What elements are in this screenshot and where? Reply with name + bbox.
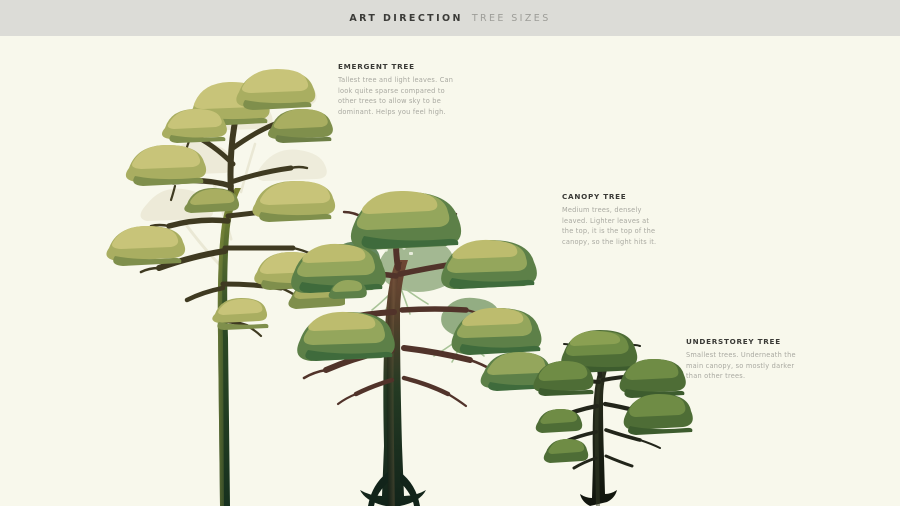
art-direction-board: ART DIRECTION TREE SIZES	[0, 0, 900, 506]
annotation-title-canopy: CANOPY TREE	[562, 193, 658, 201]
header-title-secondary: TREE SIZES	[472, 13, 551, 24]
annotation-emergent-tree: EMERGENT TREE Tallest tree and light lea…	[338, 63, 464, 118]
annotation-canopy-tree: CANOPY TREE Medium trees, densely leaved…	[562, 193, 658, 248]
understorey-foliage	[533, 330, 692, 463]
annotation-title-emergent: EMERGENT TREE	[338, 63, 464, 71]
annotation-body-canopy: Medium trees, densely leaved. Lighter le…	[562, 205, 658, 248]
annotation-title-understorey: UNDERSTOREY TREE	[686, 338, 796, 346]
header-title-primary: ART DIRECTION	[349, 13, 462, 24]
annotation-body-understorey: Smallest trees. Underneath the main cano…	[686, 350, 796, 382]
annotation-body-emergent: Tallest tree and light leaves. Can look …	[338, 75, 464, 118]
illustration-stage: EMERGENT TREE Tallest tree and light lea…	[0, 36, 900, 506]
annotation-understorey-tree: UNDERSTOREY TREE Smallest trees. Underne…	[686, 338, 796, 382]
canopy-tree	[268, 164, 550, 506]
understorey-tree	[520, 326, 700, 506]
header-title: ART DIRECTION TREE SIZES	[349, 13, 550, 24]
header-bar: ART DIRECTION TREE SIZES	[0, 0, 900, 36]
